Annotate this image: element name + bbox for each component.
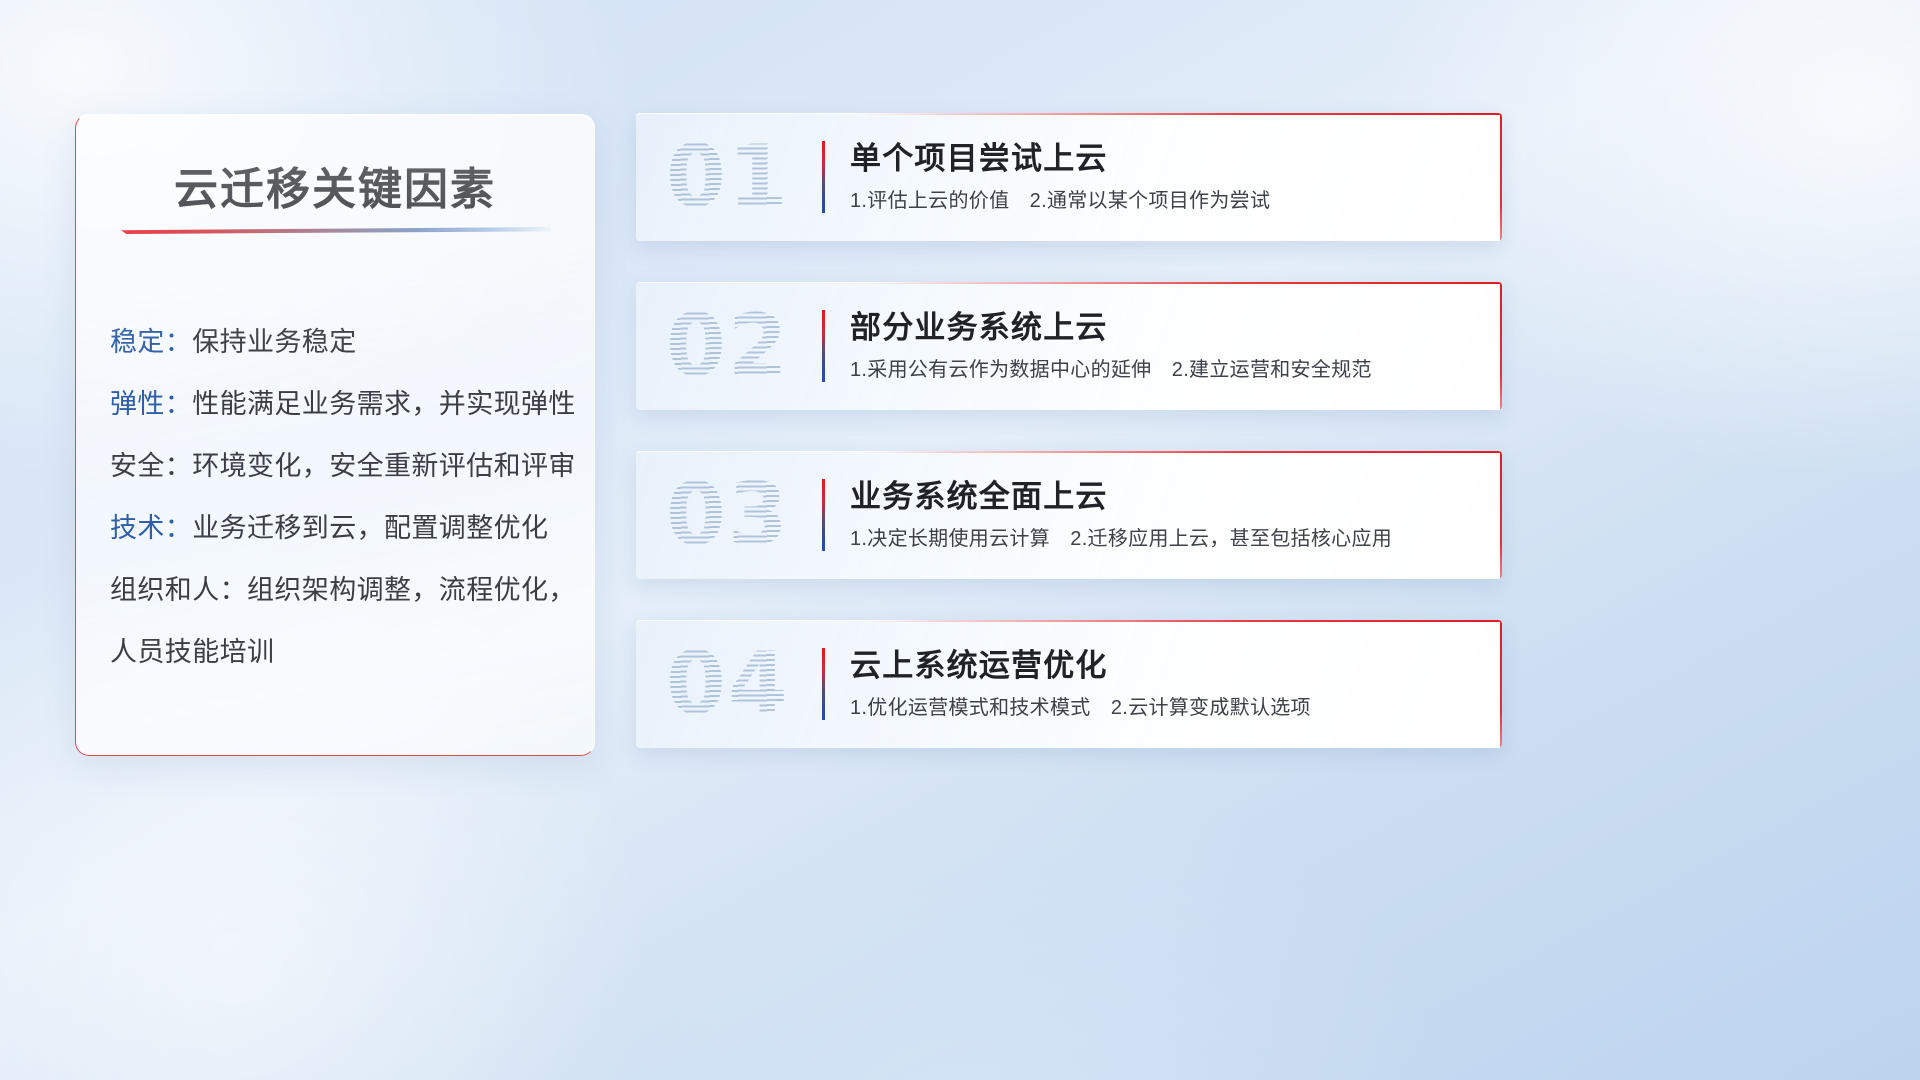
stage-card[interactable]: 01 单个项目尝试上云 1.评估上云的价值 2.通常以某个项目作为尝试 <box>636 113 1502 241</box>
stage-card[interactable]: 02 部分业务系统上云 1.采用公有云作为数据中心的延伸 2.建立运营和安全规范 <box>636 282 1502 410</box>
panel-title: 云迁移关键因素 <box>76 153 594 217</box>
list-item: 稳定：保持业务稳定 <box>110 311 572 373</box>
slide-canvas: 云迁移关键因素 稳定：保持业务稳定 弹性：性能满足业务需求，并实现弹性 安全：环… <box>0 0 1920 1080</box>
list-item-key: 安全： <box>110 451 192 481</box>
title-underline-rule <box>121 227 551 234</box>
list-item-text: 人员技能培训 <box>110 637 274 667</box>
list-item: 安全：环境变化，安全重新评估和评审 <box>110 435 572 497</box>
stage-number: 02 <box>666 303 790 389</box>
key-factors-panel: 云迁移关键因素 稳定：保持业务稳定 弹性：性能满足业务需求，并实现弹性 安全：环… <box>75 114 595 756</box>
list-item-key: 稳定： <box>110 327 192 357</box>
stage-title: 部分业务系统上云 <box>850 306 1476 350</box>
stage-divider-bar <box>822 141 825 213</box>
stage-number: 01 <box>666 134 790 220</box>
stage-card-body: 单个项目尝试上云 1.评估上云的价值 2.通常以某个项目作为尝试 <box>850 137 1476 215</box>
list-item: 组织和人：组织架构调整，流程优化， <box>110 559 572 621</box>
stage-card-body: 业务系统全面上云 1.决定长期使用云计算 2.迁移应用上云，甚至包括核心应用 <box>850 475 1476 553</box>
list-item-text: 性能满足业务需求，并实现弹性 <box>192 389 576 419</box>
stage-card[interactable]: 04 云上系统运营优化 1.优化运营模式和技术模式 2.云计算变成默认选项 <box>636 620 1502 748</box>
stage-title: 单个项目尝试上云 <box>850 137 1476 181</box>
stage-card-body: 部分业务系统上云 1.采用公有云作为数据中心的延伸 2.建立运营和安全规范 <box>850 306 1476 384</box>
list-item-key: 弹性： <box>110 389 192 419</box>
stage-subtitle: 1.优化运营模式和技术模式 2.云计算变成默认选项 <box>850 694 1476 722</box>
stage-subtitle: 1.评估上云的价值 2.通常以某个项目作为尝试 <box>850 187 1476 215</box>
migration-stage-cards: 01 单个项目尝试上云 1.评估上云的价值 2.通常以某个项目作为尝试 02 部… <box>636 113 1502 789</box>
list-item-key: 组织和人： <box>110 575 247 605</box>
list-item: 人员技能培训 <box>110 621 572 683</box>
stage-subtitle: 1.决定长期使用云计算 2.迁移应用上云，甚至包括核心应用 <box>850 525 1476 553</box>
key-factors-list: 稳定：保持业务稳定 弹性：性能满足业务需求，并实现弹性 安全：环境变化，安全重新… <box>110 311 572 683</box>
stage-subtitle: 1.采用公有云作为数据中心的延伸 2.建立运营和安全规范 <box>850 356 1476 384</box>
stage-number: 03 <box>666 472 790 558</box>
list-item-text: 环境变化，安全重新评估和评审 <box>192 451 576 481</box>
list-item-key: 技术： <box>110 513 192 543</box>
stage-divider-bar <box>822 479 825 551</box>
stage-number: 04 <box>666 641 790 727</box>
stage-card[interactable]: 03 业务系统全面上云 1.决定长期使用云计算 2.迁移应用上云，甚至包括核心应… <box>636 451 1502 579</box>
stage-card-body: 云上系统运营优化 1.优化运营模式和技术模式 2.云计算变成默认选项 <box>850 644 1476 722</box>
stage-title: 云上系统运营优化 <box>850 644 1476 688</box>
list-item: 技术：业务迁移到云，配置调整优化 <box>110 497 572 559</box>
stage-divider-bar <box>822 648 825 720</box>
list-item: 弹性：性能满足业务需求，并实现弹性 <box>110 373 572 435</box>
list-item-text: 业务迁移到云，配置调整优化 <box>192 513 548 543</box>
stage-title: 业务系统全面上云 <box>850 475 1476 519</box>
list-item-text: 组织架构调整，流程优化， <box>247 575 576 605</box>
stage-divider-bar <box>822 310 825 382</box>
list-item-text: 保持业务稳定 <box>192 327 356 357</box>
